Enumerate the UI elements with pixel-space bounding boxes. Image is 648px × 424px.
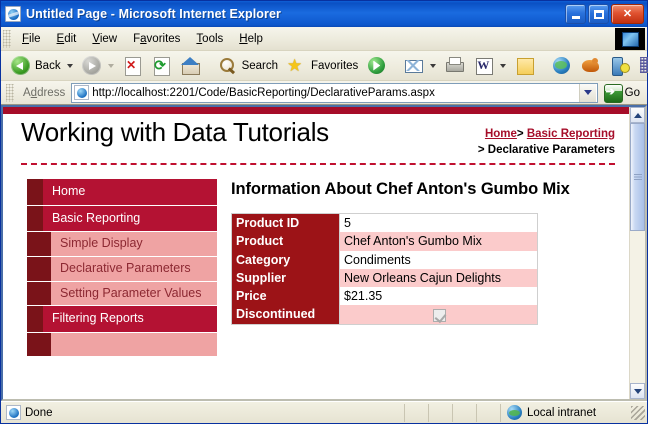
mail-button[interactable]	[399, 54, 440, 78]
sidebar-item-filtering-reports[interactable]: Filtering Reports	[27, 306, 217, 332]
home-button[interactable]	[176, 54, 205, 78]
search-icon	[217, 55, 238, 76]
refresh-button[interactable]	[147, 54, 176, 78]
sidebar-item-label	[51, 333, 217, 357]
back-icon	[10, 55, 31, 76]
research-icon	[609, 55, 630, 76]
chevron-up-icon	[634, 113, 642, 118]
sidebar-item-label: Basic Reporting	[43, 206, 217, 232]
scrollbar-track[interactable]	[630, 123, 645, 383]
stop-button[interactable]	[118, 54, 147, 78]
forward-dropdown-icon[interactable]	[108, 64, 114, 68]
sidebar-item-label: Home	[43, 179, 217, 205]
globe-icon	[507, 405, 522, 420]
back-dropdown-icon[interactable]	[67, 64, 73, 68]
window-icon	[5, 6, 21, 22]
maximize-icon	[594, 10, 604, 19]
status-message-pane: Done	[1, 404, 405, 422]
favorites-button[interactable]: Favorites	[282, 54, 362, 78]
nav-accent-bar	[27, 333, 51, 357]
nav-accent-bar	[27, 282, 51, 306]
breadcrumb-current: Declarative Parameters	[488, 144, 615, 156]
address-url-text: http://localhost:2201/Code/BasicReportin…	[92, 87, 575, 99]
favorites-label: Favorites	[311, 60, 358, 72]
sidebar-item-label: Simple Display	[51, 232, 217, 256]
media-button[interactable]	[362, 54, 391, 78]
research-button[interactable]	[605, 54, 634, 78]
notes-icon	[514, 55, 535, 76]
discuss-globe-icon	[551, 55, 572, 76]
row-label: Category	[232, 251, 340, 269]
page-content: Home Basic Reporting Simple Display Decl…	[3, 165, 629, 357]
menu-bar: File Edit View Favorites Tools Help	[1, 27, 647, 51]
breadcrumb-separator-2: >	[478, 144, 485, 156]
scroll-up-button[interactable]	[630, 107, 645, 123]
sidebar-nav: Home Basic Reporting Simple Display Decl…	[27, 179, 217, 357]
close-icon: ✕	[623, 9, 632, 20]
scrollbar-thumb[interactable]	[630, 123, 645, 231]
page-header: Working with Data Tutorials Home> Basic …	[3, 114, 629, 158]
window-controls: ✕	[565, 4, 644, 24]
breadcrumb-separator-1: >	[517, 128, 524, 140]
page-icon	[74, 85, 89, 100]
page-viewport: Working with Data Tutorials Home> Basic …	[1, 105, 647, 401]
row-label: Discontinued	[232, 305, 340, 324]
table-row: Price $21.35	[232, 287, 538, 305]
title-bar: Untitled Page - Microsoft Internet Explo…	[1, 1, 647, 27]
address-bar: Address http://localhost:2201/Code/Basic…	[1, 81, 647, 105]
address-input[interactable]: http://localhost:2201/Code/BasicReportin…	[71, 83, 597, 103]
mail-dropdown-icon[interactable]	[430, 64, 436, 68]
nav-accent-bar	[27, 306, 43, 332]
nav-accent-bar	[27, 232, 51, 256]
menu-file[interactable]: File	[14, 30, 49, 48]
address-dropdown-button[interactable]	[579, 84, 596, 102]
menu-drag-grip[interactable]	[3, 30, 11, 48]
window-title: Untitled Page - Microsoft Internet Explo…	[26, 7, 281, 21]
sidebar-item-label: Declarative Parameters	[51, 257, 217, 281]
table-row: Product Chef Anton's Gumbo Mix	[232, 232, 538, 250]
favorites-star-icon	[286, 55, 307, 76]
table-row: Product ID 5	[232, 214, 538, 233]
security-zone-label: Local intranet	[527, 407, 596, 419]
discuss-button[interactable]	[547, 54, 576, 78]
messenger-button[interactable]	[576, 54, 605, 78]
messenger-icon	[580, 55, 601, 76]
vertical-scrollbar[interactable]	[629, 107, 645, 399]
web-page: Working with Data Tutorials Home> Basic …	[3, 107, 629, 399]
row-value: 5	[340, 214, 538, 233]
address-drag-grip[interactable]	[6, 84, 14, 102]
discontinued-checkbox	[433, 309, 446, 322]
sidebar-item-setting-parameter-values[interactable]: Setting Parameter Values	[27, 282, 217, 306]
scroll-down-button[interactable]	[630, 383, 645, 399]
edit-button[interactable]	[469, 54, 510, 78]
minimize-button[interactable]	[565, 4, 586, 24]
status-pane-2	[429, 404, 453, 422]
sidebar-item-basic-reporting[interactable]: Basic Reporting	[27, 206, 217, 232]
row-label: Product ID	[232, 214, 340, 233]
menu-edit[interactable]: Edit	[49, 30, 85, 48]
row-label: Price	[232, 287, 340, 305]
ie-brand-logo	[615, 28, 645, 50]
refresh-icon	[151, 55, 172, 76]
page-top-accent-bar	[3, 107, 629, 114]
stop-icon	[122, 55, 143, 76]
main-heading: Information About Chef Anton's Gumbo Mix	[231, 179, 619, 199]
sidebar-item-partial[interactable]	[27, 333, 217, 357]
row-value	[340, 305, 538, 324]
sidebar-item-label: Setting Parameter Values	[51, 282, 217, 306]
status-message: Done	[25, 407, 53, 419]
mail-icon	[403, 55, 424, 76]
status-pane-1	[405, 404, 429, 422]
print-icon	[444, 55, 465, 76]
media-icon	[366, 55, 387, 76]
maximize-button[interactable]	[588, 4, 609, 24]
menu-help[interactable]: Help	[231, 30, 271, 48]
sidebar-item-label: Filtering Reports	[43, 306, 217, 332]
table-row: Supplier New Orleans Cajun Delights	[232, 269, 538, 287]
search-button[interactable]: Search	[213, 54, 282, 78]
print-button[interactable]	[440, 54, 469, 78]
main-panel: Information About Chef Anton's Gumbo Mix…	[217, 179, 629, 357]
scrollbar-grip-icon	[634, 174, 642, 181]
notes-button[interactable]	[510, 54, 539, 78]
edit-html-icon	[638, 55, 648, 76]
breadcrumb-link-home[interactable]: Home	[485, 128, 517, 140]
minimize-icon	[572, 16, 580, 19]
page-title: Working with Data Tutorials	[21, 118, 329, 147]
row-label: Supplier	[232, 269, 340, 287]
edit-html-button[interactable]	[634, 54, 648, 78]
security-zone-pane[interactable]: Local intranet	[501, 404, 631, 422]
row-value: Condiments	[340, 251, 538, 269]
table-row: Discontinued	[232, 305, 538, 324]
chevron-down-icon	[634, 389, 642, 394]
back-button[interactable]: Back	[6, 54, 77, 78]
back-label: Back	[35, 60, 61, 72]
menu-tools[interactable]: Tools	[188, 30, 231, 48]
table-row: Category Condiments	[232, 251, 538, 269]
search-label: Search	[242, 60, 278, 72]
row-value: Chef Anton's Gumbo Mix	[340, 232, 538, 250]
close-button[interactable]: ✕	[611, 4, 644, 24]
row-label: Product	[232, 232, 340, 250]
menu-favorites[interactable]: Favorites	[125, 30, 188, 48]
row-value: New Orleans Cajun Delights	[340, 269, 538, 287]
browser-window: Untitled Page - Microsoft Internet Explo…	[0, 0, 648, 424]
home-icon	[180, 55, 201, 76]
status-bar: Done Local intranet	[1, 401, 647, 423]
go-arrow-icon	[603, 83, 622, 102]
edit-dropdown-icon[interactable]	[500, 64, 506, 68]
status-pane-4	[477, 404, 501, 422]
forward-icon	[81, 55, 102, 76]
go-button[interactable]: Go	[601, 82, 644, 104]
sidebar-item-declarative-parameters[interactable]: Declarative Parameters	[27, 257, 217, 281]
edit-word-icon	[473, 55, 494, 76]
menu-view[interactable]: View	[84, 30, 125, 48]
row-value: $21.35	[340, 287, 538, 305]
nav-accent-bar	[27, 179, 43, 205]
sidebar-item-home[interactable]: Home	[27, 179, 217, 205]
address-label: Address	[20, 87, 68, 99]
breadcrumb-link-basic-reporting[interactable]: Basic Reporting	[527, 128, 615, 140]
forward-button[interactable]	[77, 54, 118, 78]
navigation-toolbar: Back Search Favorites	[1, 51, 647, 81]
status-page-icon	[6, 405, 21, 420]
window-resize-grip[interactable]	[631, 406, 645, 420]
status-pane-3	[453, 404, 477, 422]
breadcrumb: Home> Basic Reporting > Declarative Para…	[478, 118, 615, 158]
nav-accent-bar	[27, 257, 51, 281]
sidebar-item-simple-display[interactable]: Simple Display	[27, 232, 217, 256]
product-details-table: Product ID 5 Product Chef Anton's Gumbo …	[231, 213, 538, 325]
nav-accent-bar	[27, 206, 43, 232]
go-label: Go	[625, 87, 640, 99]
